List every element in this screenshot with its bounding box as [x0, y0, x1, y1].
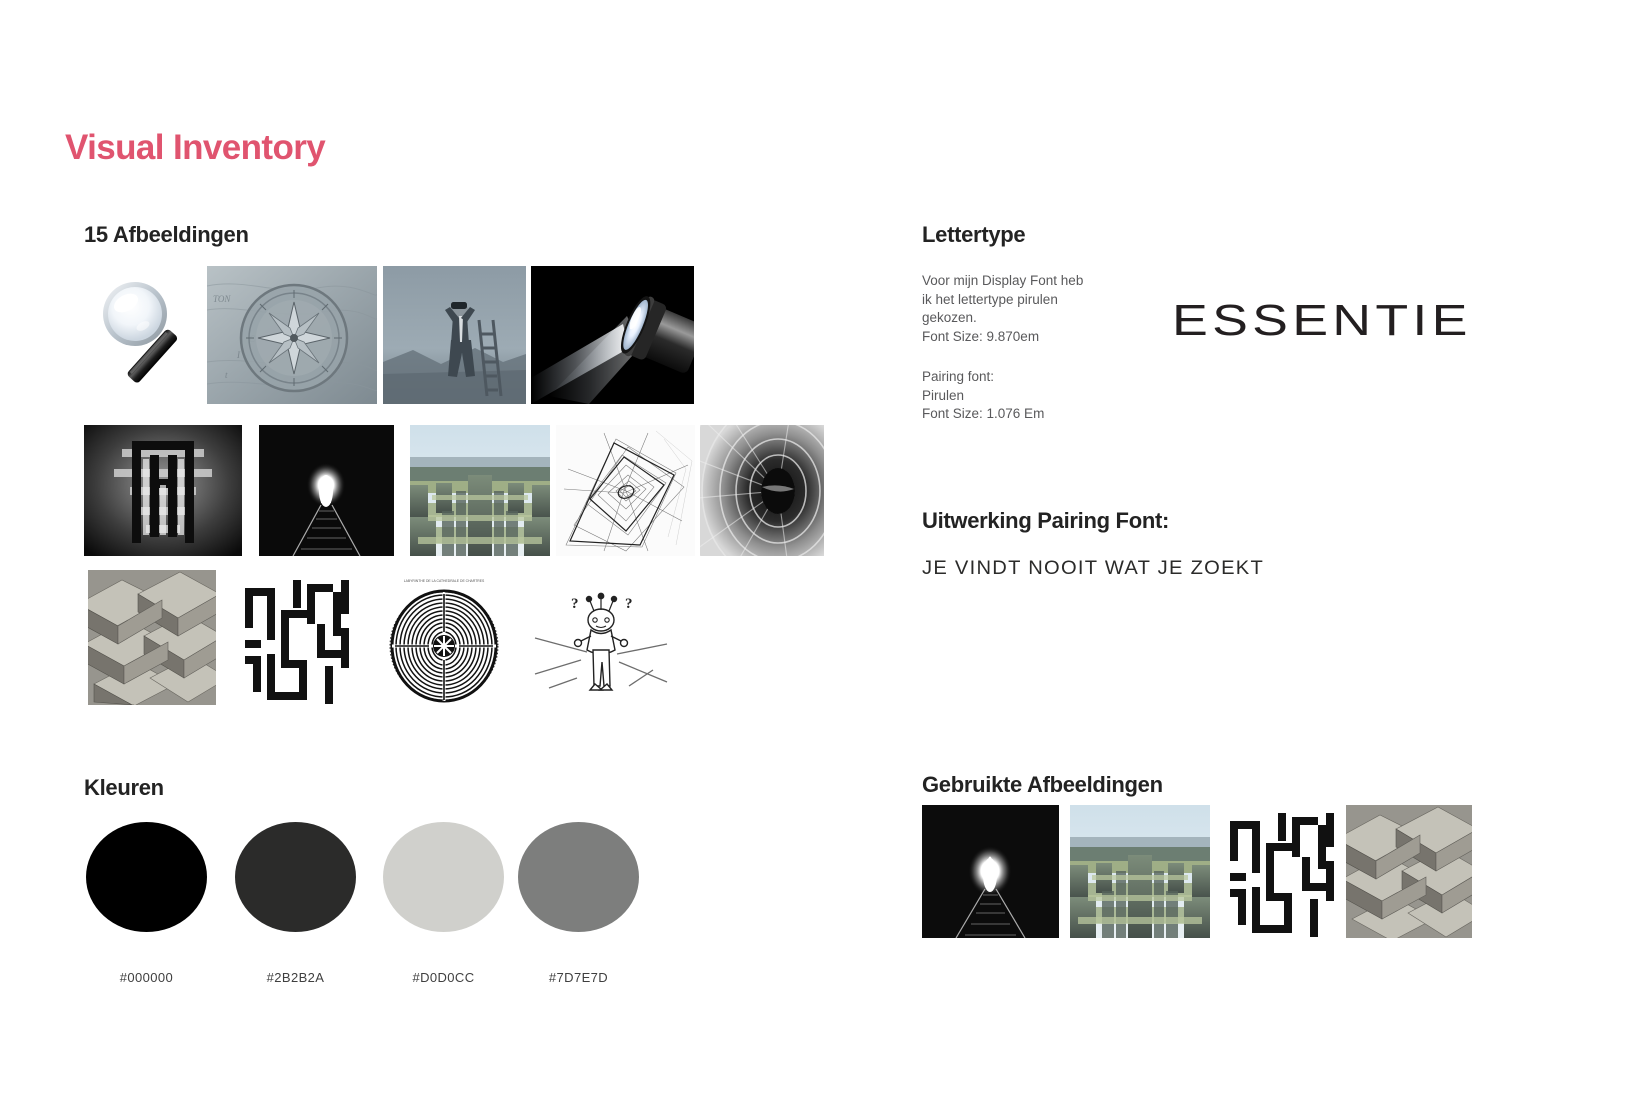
- thumbnail-isometric-stone-maze[interactable]: [88, 570, 216, 705]
- swatch-hex-label: #2B2B2A: [235, 970, 356, 985]
- slide-canvas: Visual Inventory 15 Afbeeldingen: [0, 0, 1632, 1104]
- svg-text:TON: TON: [213, 294, 231, 304]
- swatch-hex-label: #D0D0CC: [383, 970, 504, 985]
- thumbnail-compass-on-map[interactable]: TONICt: [207, 266, 377, 404]
- used-thumbnail-black-maze-lineart[interactable]: [1224, 805, 1342, 938]
- thumbnail-flashlight-beam[interactable]: [531, 266, 694, 404]
- used-thumbnail-hedge-maze-landscape[interactable]: [1070, 805, 1210, 938]
- section-heading-lettertype: Lettertype: [922, 222, 1025, 248]
- swatch-hex-label: #7D7E7D: [518, 970, 639, 985]
- swatch-mid-grey: [518, 822, 639, 932]
- thumbnail-black-maze-lineart[interactable]: [237, 570, 357, 705]
- pairing-font-sample: JE VINDT NOOIT WAT JE ZOEKT: [922, 558, 1264, 580]
- pairing-font-description: Pairing font: Pirulen Font Size: 1.076 E…: [922, 368, 1152, 424]
- section-heading-afbeeldingen: 15 Afbeeldingen: [84, 222, 249, 248]
- thumbnail-wireframe-abstract[interactable]: [556, 425, 695, 556]
- display-font-sample: ESSENTIE: [1172, 296, 1472, 346]
- thumbnail-magnifying-glass[interactable]: [88, 266, 206, 404]
- used-thumbnail-isometric-stone-maze[interactable]: [1346, 805, 1472, 938]
- svg-text:?: ?: [571, 596, 579, 612]
- thumbnail-tunnel-light-railway[interactable]: [259, 425, 394, 556]
- swatch-black: [86, 822, 207, 932]
- color-swatch-1: #2B2B2A: [235, 822, 356, 985]
- page-title: Visual Inventory: [65, 128, 325, 168]
- color-swatch-3: #7D7E7D: [518, 822, 639, 985]
- thumbnail-circular-labyrinth[interactable]: LABYRINTHE DE LA CATHEDRALE DE CHARTRES: [379, 570, 509, 705]
- svg-text:LABYRINTHE DE LA CATHEDRALE DE: LABYRINTHE DE LA CATHEDRALE DE CHARTRES: [404, 579, 485, 583]
- svg-text:?: ?: [625, 596, 633, 612]
- thumbnail-hedge-maze-landscape[interactable]: [410, 425, 550, 556]
- used-thumbnail-tunnel-light-railway[interactable]: [922, 805, 1059, 938]
- swatch-light-grey: [383, 822, 504, 932]
- color-swatch-0: #000000: [86, 822, 207, 985]
- section-heading-gebruikte-afbeeldingen: Gebruikte Afbeeldingen: [922, 772, 1163, 798]
- swatch-dark-grey: [235, 822, 356, 932]
- thumbnail-abstract-maze-gradient[interactable]: [84, 425, 242, 556]
- thumbnail-man-on-ladder-binoculars[interactable]: [383, 266, 526, 404]
- color-swatch-2: #D0D0CC: [383, 822, 504, 985]
- thumbnail-circular-brick-tunnel[interactable]: [700, 425, 824, 556]
- display-font-description: Voor mijn Display Font heb ik het letter…: [922, 272, 1152, 346]
- section-heading-kleuren: Kleuren: [84, 775, 164, 801]
- swatch-hex-label: #000000: [86, 970, 207, 985]
- thumbnail-confused-cartoon-figure[interactable]: ? ?: [533, 570, 669, 705]
- section-heading-uitwerking-pairing-font: Uitwerking Pairing Font:: [922, 508, 1169, 534]
